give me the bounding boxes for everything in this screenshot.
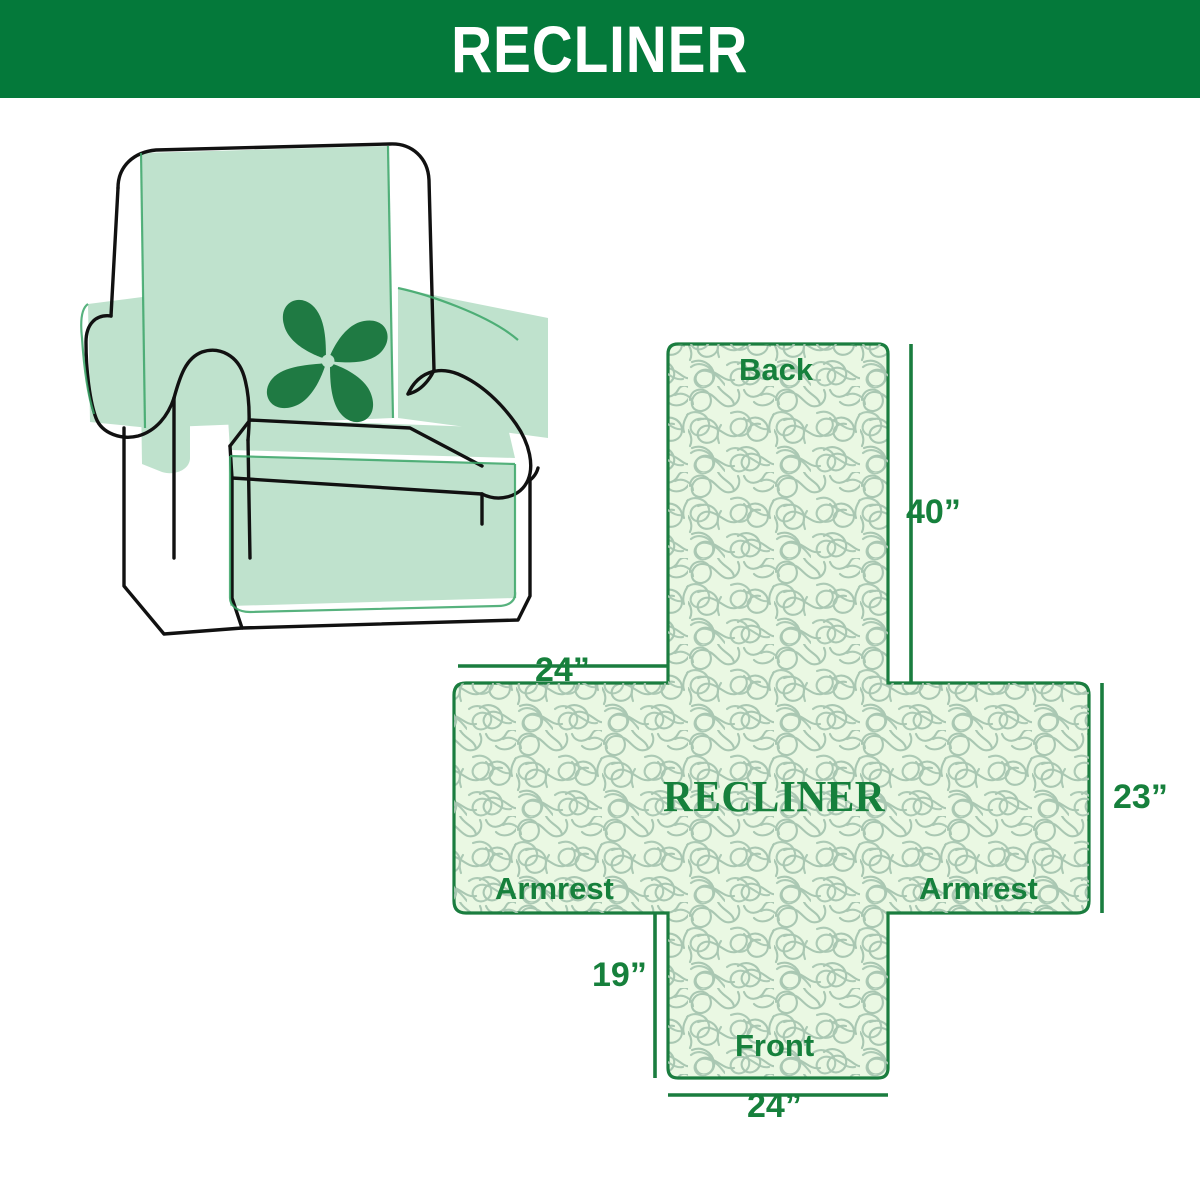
cover-cross-shape [454, 344, 1089, 1078]
page-title: RECLINER [451, 16, 748, 82]
dimension-label-armrest-height: 23” [1113, 780, 1168, 814]
panel-label-armrest-left: Armrest [495, 873, 614, 904]
panel-label-center: RECLINER [663, 775, 885, 819]
dimension-label-front-height: 19” [592, 958, 647, 992]
dimension-label-armrest-top: 24” [535, 653, 590, 687]
panel-label-front: Front [735, 1030, 814, 1061]
header-banner: RECLINER [0, 0, 1200, 98]
dimension-label-back-height: 40” [906, 495, 961, 529]
dimension-label-front-width: 24” [747, 1089, 802, 1123]
pattern-diagram [430, 300, 1200, 1150]
panel-label-armrest-right: Armrest [919, 873, 1038, 904]
panel-label-back: Back [739, 354, 813, 385]
